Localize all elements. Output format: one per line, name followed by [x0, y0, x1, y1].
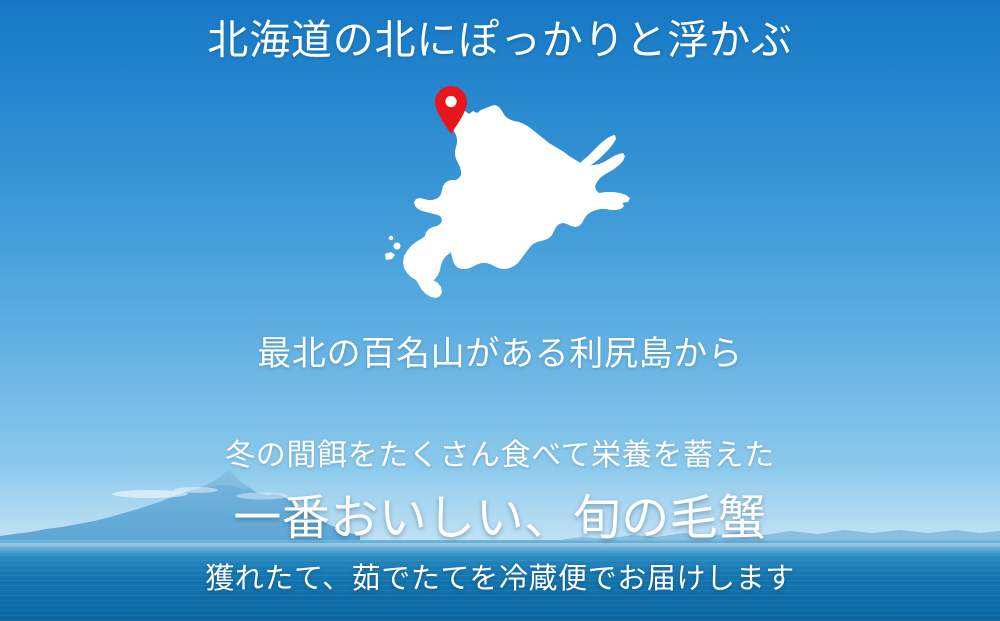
hokkaido-map	[385, 86, 635, 321]
page-title: 北海道の北にぽっかりと浮かぶ	[0, 20, 1000, 61]
product-headline: 一番おいしい、旬の毛蟹	[0, 495, 1000, 543]
subheadline: 最北の百名山がある利尻島から	[0, 338, 1000, 372]
hokkaido-silhouette-icon	[385, 86, 635, 321]
rishiri-map-pin[interactable]	[434, 85, 468, 135]
footer-text: 獲れたて、茹でたてを冷蔵便でお届けします	[0, 565, 1000, 594]
lead-text: 冬の間餌をたくさん食べて栄養を蓄えた	[0, 441, 1000, 471]
map-pin-icon[interactable]	[434, 85, 468, 135]
promo-banner: 北海道の北にぽっかりと浮かぶ 最北の百名山がある利尻島から 冬の間餌をたくさん食…	[0, 0, 1000, 621]
